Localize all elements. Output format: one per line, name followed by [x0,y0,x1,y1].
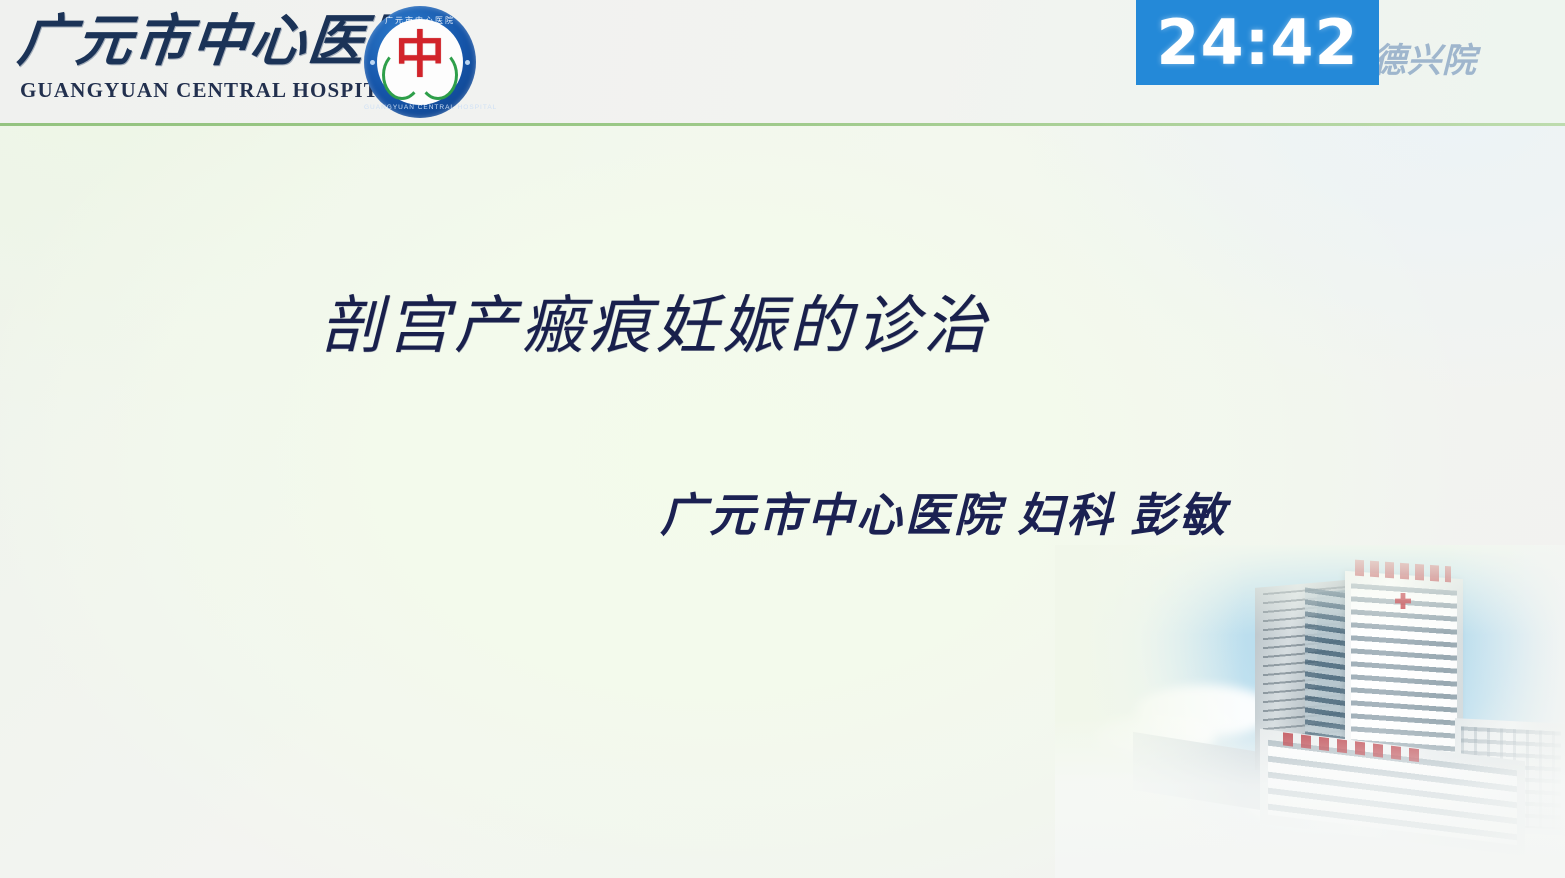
slide-title: 剖宫产瘢痕妊娠的诊治 [320,288,1020,364]
header-divider-rule [0,123,1565,126]
hospital-building-image [1055,545,1565,878]
image-fade-bottom [1055,718,1565,878]
hospital-wordmark-chinese: 广元市中心医院 [15,10,358,74]
slide-presenter-subtitle: 广元市中心医院 妇科 彭敏 [660,487,1300,545]
emblem-symbol-glyph: 中 [364,24,476,86]
countdown-timer-overlay: 24:42 [1136,0,1379,85]
emblem-bottom-text: GUANGYUAN CENTRAL HOSPITAL [364,104,476,111]
presentation-slide-screen: 广元市中心医院 GUANGYUAN CENTRAL HOSPITAL 广元市中心… [0,0,1565,878]
hospital-emblem-icon: 广元市中心医院 GUANGYUAN CENTRAL HOSPITAL 中 [364,6,476,118]
hospital-wordmark-english: GUANGYUAN CENTRAL HOSPITAL [20,78,409,103]
countdown-timer-value: 24:42 [1156,12,1358,74]
branch-name-label: 德兴院 [1372,33,1477,82]
